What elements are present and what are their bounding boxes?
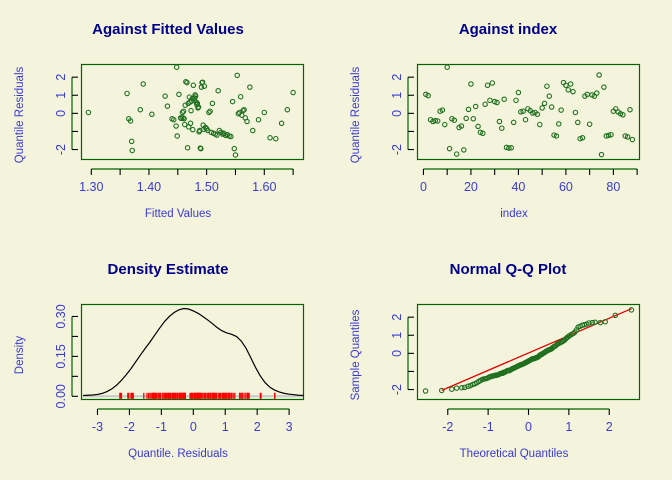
data-point [199, 85, 203, 89]
panel-against-index: Against index index Quantile Residuals 0… [336, 0, 672, 240]
data-point [138, 108, 142, 112]
data-point [557, 122, 561, 126]
y-tick-label: 2 [390, 74, 404, 81]
data-point [233, 153, 237, 157]
y-tick-label: 0.30 [54, 304, 68, 328]
x-axis: 020406080 [420, 169, 637, 194]
panel-title: Normal Q-Q Plot [450, 261, 567, 278]
data-point [279, 121, 283, 125]
data-point [568, 82, 572, 86]
data-point [291, 90, 295, 94]
density-estimate-svg: Density Estimate Quantile. Residuals Den… [0, 240, 336, 480]
x-axis-label: Theoretical Quantiles [460, 448, 569, 460]
y-tick-label: 0 [54, 110, 68, 117]
data-point [511, 120, 515, 124]
data-point [573, 110, 577, 114]
data-point [191, 127, 195, 131]
data-point [210, 101, 214, 105]
data-point [86, 110, 90, 114]
data-point [628, 108, 632, 112]
data-point [571, 89, 575, 93]
plot-region: -2-1012 210-2 [390, 305, 640, 434]
x-tick-label: 40 [511, 180, 525, 194]
data-point [576, 120, 580, 124]
y-tick-label: 1 [54, 92, 68, 99]
x-axis-label: Quantile. Residuals [128, 448, 228, 460]
points-layer [86, 65, 295, 157]
data-point [545, 84, 549, 88]
data-point [485, 83, 489, 87]
data-point [490, 81, 494, 85]
y-tick-label: 1 [390, 332, 404, 339]
x-tick-label: 0 [420, 180, 427, 194]
data-point [423, 389, 427, 393]
x-tick-label: 1 [222, 420, 229, 434]
data-point [595, 91, 599, 95]
data-point [597, 73, 601, 77]
data-point [471, 117, 475, 121]
data-point [285, 108, 289, 112]
data-point [141, 82, 145, 86]
panel-against-fitted-values: Against Fitted Values Fitted Values Quan… [0, 0, 336, 240]
y-tick-label: -2 [390, 384, 404, 395]
data-point [447, 146, 451, 150]
x-tick-label: 0 [525, 420, 532, 434]
data-point [440, 388, 444, 392]
data-point [497, 119, 501, 123]
y-axis: 210-2 [54, 74, 78, 155]
data-point [256, 117, 260, 121]
y-axis: 210-2 [390, 314, 414, 395]
y-tick-label: 1 [390, 92, 404, 99]
against-index-svg: Against index index Quantile Residuals 0… [336, 0, 672, 240]
x-axis: 1.301.401.501.60 [79, 169, 293, 194]
x-tick-label: 0 [190, 420, 197, 434]
panel-density-estimate: Density Estimate Quantile. Residuals Den… [0, 240, 336, 480]
data-point [174, 124, 178, 128]
x-tick-label: 80 [606, 180, 620, 194]
normal-qq-plot-svg: Normal Q-Q Plot Theoretical Quantiles Sa… [336, 240, 672, 480]
y-axis-label: Density [14, 336, 26, 375]
x-tick-label: 1.40 [137, 180, 161, 194]
x-tick-label: 20 [464, 180, 478, 194]
plot-region: -3-2-10123 0.000.150.30 [54, 304, 304, 434]
x-tick-label: 2 [254, 420, 261, 434]
points-layer [423, 308, 633, 393]
data-point [191, 83, 195, 87]
data-point [630, 137, 634, 141]
x-tick-label: 1 [565, 420, 572, 434]
data-point [175, 134, 179, 138]
data-point [262, 110, 266, 114]
data-point [599, 152, 603, 156]
data-point [559, 108, 563, 112]
data-point [202, 84, 206, 88]
data-point [469, 82, 473, 86]
x-tick-label: -1 [483, 420, 494, 434]
data-point [450, 387, 454, 391]
y-tick-label: 0.15 [54, 344, 68, 368]
data-point [566, 88, 570, 92]
data-point [514, 98, 518, 102]
y-tick-label: -2 [390, 144, 404, 155]
data-point [174, 65, 178, 69]
y-axis-label: Quantile Residuals [350, 66, 362, 163]
x-tick-label: 60 [559, 180, 573, 194]
against-fitted-values-svg: Against Fitted Values Fitted Values Quan… [0, 0, 336, 240]
x-tick-label: -1 [156, 420, 167, 434]
y-axis: 210-2 [390, 74, 414, 155]
panel-title: Against index [459, 21, 558, 38]
plot-box [418, 305, 640, 400]
data-point [549, 105, 553, 109]
data-point [540, 106, 544, 110]
data-point [189, 108, 193, 112]
data-point [216, 89, 220, 93]
y-tick-label: 2 [54, 74, 68, 81]
data-point [248, 85, 252, 89]
x-tick-label: 1.50 [194, 180, 218, 194]
density-curve [83, 308, 303, 395]
data-point [230, 99, 234, 103]
data-point [466, 107, 470, 111]
data-point [587, 122, 591, 126]
x-tick-label: 1.60 [252, 180, 276, 194]
y-tick-label: 0 [390, 110, 404, 117]
data-point [130, 148, 134, 152]
y-tick-label: 0 [390, 350, 404, 357]
data-point [473, 104, 477, 108]
y-axis: 0.000.150.30 [54, 304, 78, 408]
x-tick-label: 2 [606, 420, 613, 434]
data-point [454, 386, 458, 390]
data-point [502, 97, 506, 101]
data-point [462, 148, 466, 152]
y-axis-label: Sample Quantiles [350, 309, 362, 400]
data-point [516, 90, 520, 94]
x-tick-label: 3 [286, 420, 293, 434]
data-point [488, 98, 492, 102]
data-point [165, 104, 169, 108]
x-axis-label: index [500, 208, 528, 220]
plot-region: 1.301.401.501.60 210-2 [54, 65, 304, 194]
data-point [483, 102, 487, 106]
data-point [268, 136, 272, 140]
data-point [454, 152, 458, 156]
data-point [163, 94, 167, 98]
panel-title: Against Fitted Values [92, 21, 244, 38]
x-tick-label: -2 [124, 420, 135, 434]
data-point [251, 128, 255, 132]
x-axis: -2-1012 [442, 409, 613, 434]
data-point [274, 136, 278, 140]
data-point [464, 116, 468, 120]
data-point [445, 65, 449, 69]
y-tick-label: 0.00 [54, 384, 68, 408]
points-layer [424, 65, 635, 157]
data-point [542, 101, 546, 105]
x-axis: -3-2-10123 [92, 409, 293, 434]
panel-normal-qq-plot: Normal Q-Q Plot Theoretical Quantiles Sa… [336, 240, 672, 480]
data-point [125, 91, 129, 95]
data-point [177, 92, 181, 96]
x-tick-label: 1.30 [79, 180, 103, 194]
data-point [235, 73, 239, 77]
data-point [443, 122, 447, 126]
density-curve-layer [83, 308, 303, 395]
r-diagnostic-plot-figure: Against Fitted Values Fitted Values Quan… [0, 0, 672, 480]
data-point [129, 139, 133, 143]
x-axis-label: Fitted Values [145, 208, 212, 220]
data-point [238, 95, 242, 99]
data-point [523, 117, 527, 121]
panel-title: Density Estimate [108, 261, 229, 278]
rug-layer [83, 393, 303, 399]
y-axis-label: Quantile Residuals [14, 66, 26, 163]
x-tick-label: -3 [92, 420, 103, 434]
data-point [547, 94, 551, 98]
data-point [150, 112, 154, 116]
x-tick-label: -2 [442, 420, 453, 434]
y-tick-label: -2 [54, 144, 68, 155]
data-point [602, 85, 606, 89]
y-tick-label: 2 [390, 314, 404, 321]
plot-box [82, 305, 304, 400]
data-point [476, 124, 480, 128]
data-point [538, 122, 542, 126]
plot-region: 020406080 210-2 [390, 65, 640, 194]
data-point [232, 146, 236, 150]
data-point [185, 146, 189, 150]
data-point [500, 126, 504, 130]
